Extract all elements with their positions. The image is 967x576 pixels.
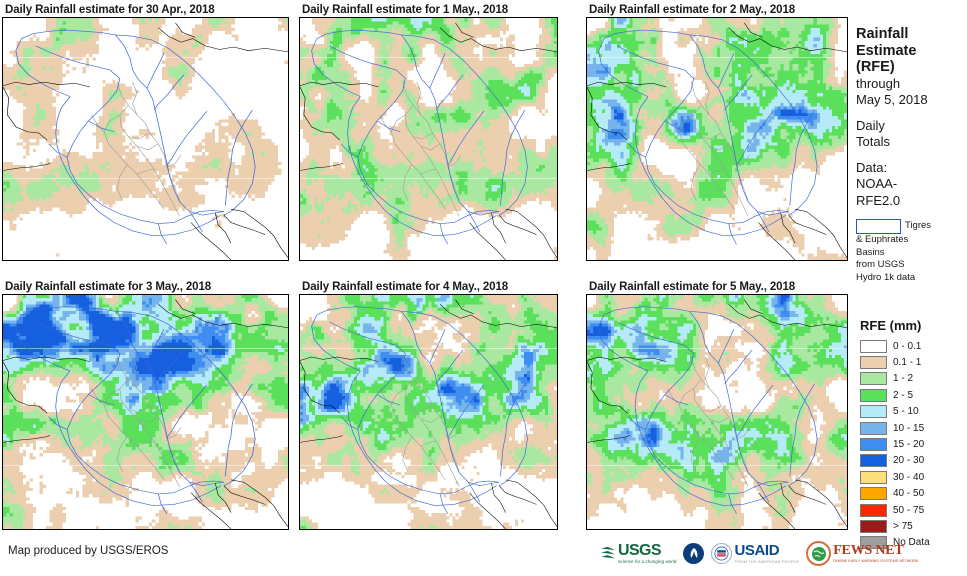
map-frame[interactable] xyxy=(586,294,848,530)
basin-line3: Basins xyxy=(856,247,967,260)
basin-legend: Tigres & Euphrates Basins from USGS Hydr… xyxy=(856,219,967,284)
map-frame[interactable] xyxy=(586,17,848,261)
fewsnet-logo[interactable]: FEWS NET FAMINE EARLY WARNING SYSTEMS NE… xyxy=(806,541,918,566)
rfe-legend-rows: 0 - 0.10.1 - 11 - 22 - 55 - 1010 - 1515 … xyxy=(860,338,967,551)
rfe-legend-item: 50 - 75 xyxy=(860,502,967,518)
noaa-seal-icon xyxy=(683,543,704,564)
rfe-legend-label: 0 - 0.1 xyxy=(893,341,921,352)
legend-sidebar: Rainfall Estimate (RFE) through May 5, 2… xyxy=(856,26,967,284)
panel-title: Daily Rainfall estimate for 5 May., 2018 xyxy=(584,281,876,294)
rfe-legend-item: 2 - 5 xyxy=(860,387,967,403)
rfe-legend-item: > 75 xyxy=(860,518,967,534)
usgs-logo-name: USGS xyxy=(618,543,676,559)
rainfall-map-canvas[interactable] xyxy=(300,295,557,529)
rfe-legend-swatch xyxy=(860,454,887,467)
rfe-legend-label: 30 - 40 xyxy=(893,472,924,483)
rfe-legend-swatch xyxy=(860,438,887,451)
panel-title: Daily Rainfall estimate for 1 May., 2018 xyxy=(297,4,589,17)
rfe-legend-swatch xyxy=(860,471,887,484)
usgs-logo[interactable]: USGS science for a changing world xyxy=(600,543,676,564)
rfe-legend-swatch xyxy=(860,520,887,533)
sidebar-data-line2: NOAA- xyxy=(856,176,967,193)
map-panel-1: Daily Rainfall estimate for 30 Apr., 201… xyxy=(0,4,292,261)
rfe-legend-label: 2 - 5 xyxy=(893,390,913,401)
rfe-legend-item: 40 - 50 xyxy=(860,486,967,502)
rfe-legend-swatch xyxy=(860,356,887,369)
sidebar-data-line3: RFE2.0 xyxy=(856,193,967,210)
rfe-legend-swatch xyxy=(860,504,887,517)
rfe-legend-label: 40 - 50 xyxy=(893,488,924,499)
fewsnet-logo-name: FEWS NET xyxy=(833,544,918,558)
basin-label: Tigres xyxy=(905,220,931,233)
rainfall-map-canvas[interactable] xyxy=(300,18,557,260)
rfe-legend-item: 5 - 10 xyxy=(860,404,967,420)
map-frame[interactable] xyxy=(299,294,558,530)
rfe-legend-label: > 75 xyxy=(893,521,913,532)
rfe-legend-swatch xyxy=(860,487,887,500)
map-panel-2: Daily Rainfall estimate for 1 May., 2018 xyxy=(297,4,589,261)
fewsnet-logo-tagline: FAMINE EARLY WARNING SYSTEMS NETWORK xyxy=(833,560,918,564)
sidebar-data-label: Data: xyxy=(856,160,967,177)
sidebar-title-line1: Rainfall xyxy=(856,26,967,43)
map-credit: Map produced by USGS/EROS xyxy=(8,545,168,557)
panel-title: Daily Rainfall estimate for 2 May., 2018 xyxy=(584,4,876,17)
usgs-waves-icon xyxy=(600,546,617,561)
noaa-logo[interactable] xyxy=(683,543,704,564)
rfe-legend-item: 10 - 15 xyxy=(860,420,967,436)
globe-icon xyxy=(811,546,827,562)
fewsnet-globe-icon xyxy=(806,541,831,566)
panel-title: Daily Rainfall estimate for 4 May., 2018 xyxy=(297,281,589,294)
rfe-legend-label: 50 - 75 xyxy=(893,505,924,516)
usgs-logo-tagline: science for a changing world xyxy=(618,560,676,564)
panel-title: Daily Rainfall estimate for 30 Apr., 201… xyxy=(0,4,292,17)
rfe-legend-label: 0.1 - 1 xyxy=(893,357,921,368)
agency-logos: USGS science for a changing world USAID … xyxy=(600,541,918,566)
rainfall-map-canvas[interactable] xyxy=(3,295,288,529)
sidebar-title-line3: (RFE) xyxy=(856,59,967,76)
rfe-legend-label: 20 - 30 xyxy=(893,455,924,466)
rfe-color-legend: RFE (mm) 0 - 0.10.1 - 11 - 22 - 55 - 101… xyxy=(860,318,967,551)
sidebar-through: through xyxy=(856,76,967,93)
rfe-legend-item: 15 - 20 xyxy=(860,436,967,452)
map-frame[interactable] xyxy=(2,294,289,530)
rfe-legend-item: 0 - 0.1 xyxy=(860,338,967,354)
rainfall-map-canvas[interactable] xyxy=(587,295,847,529)
basin-line2: & Euphrates xyxy=(856,234,967,247)
sidebar-title-line2: Estimate xyxy=(856,43,967,60)
rfe-legend-swatch xyxy=(860,372,887,385)
noaa-bird-icon xyxy=(686,546,702,562)
map-panel-3: Daily Rainfall estimate for 2 May., 2018 xyxy=(584,4,876,261)
rfe-legend-swatch xyxy=(860,422,887,435)
map-panel-5: Daily Rainfall estimate for 4 May., 2018 xyxy=(297,281,589,530)
rfe-legend-label: 1 - 2 xyxy=(893,373,913,384)
rainfall-map-canvas[interactable] xyxy=(3,18,288,260)
usaid-logo[interactable]: USAID FROM THE AMERICAN PEOPLE xyxy=(711,543,799,564)
rfe-legend-swatch xyxy=(860,389,887,402)
usaid-logo-tagline: FROM THE AMERICAN PEOPLE xyxy=(734,560,799,564)
rfe-legend-label: 10 - 15 xyxy=(893,423,924,434)
usaid-shield-icon xyxy=(714,546,729,561)
usaid-logo-name: USAID xyxy=(734,543,799,558)
rfe-legend-item: 0.1 - 1 xyxy=(860,354,967,370)
basin-outline-swatch xyxy=(856,219,901,234)
rfe-legend-item: 30 - 40 xyxy=(860,469,967,485)
rfe-legend-swatch xyxy=(860,340,887,353)
rainfall-map-canvas[interactable] xyxy=(587,18,847,260)
basin-line5: Hydro 1k data xyxy=(856,272,967,285)
map-frame[interactable] xyxy=(299,17,558,261)
rfe-legend-item: 20 - 30 xyxy=(860,453,967,469)
sidebar-through-date: May 5, 2018 xyxy=(856,92,967,109)
rfe-legend-title: RFE (mm) xyxy=(860,318,967,333)
map-panel-4: Daily Rainfall estimate for 3 May., 2018 xyxy=(0,281,292,530)
map-panel-6: Daily Rainfall estimate for 5 May., 2018 xyxy=(584,281,876,530)
sidebar-totals-line2: Totals xyxy=(856,134,967,151)
panel-title: Daily Rainfall estimate for 3 May., 2018 xyxy=(0,281,292,294)
basin-line4: from USGS xyxy=(856,259,967,272)
sidebar-totals-line1: Daily xyxy=(856,118,967,135)
rfe-legend-label: 5 - 10 xyxy=(893,406,919,417)
rfe-legend-item: 1 - 2 xyxy=(860,371,967,387)
rfe-legend-swatch xyxy=(860,405,887,418)
usaid-seal-icon xyxy=(711,543,732,564)
map-frame[interactable] xyxy=(2,17,289,261)
rfe-legend-label: 15 - 20 xyxy=(893,439,924,450)
